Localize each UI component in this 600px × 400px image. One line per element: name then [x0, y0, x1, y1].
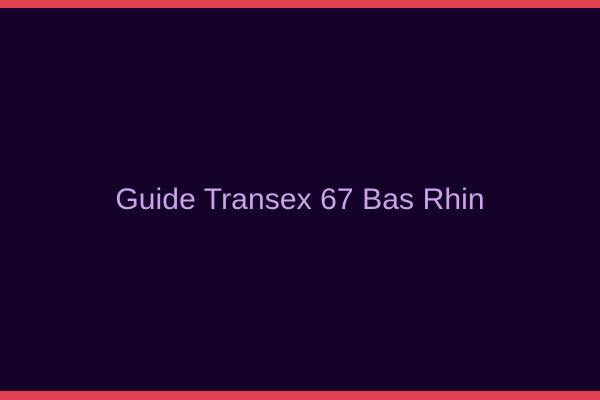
screenshot-viewport: Guide Transex 67 Bas Rhin — [0, 0, 600, 400]
content-stage: Guide Transex 67 Bas Rhin — [0, 8, 600, 391]
top-accent-bar — [0, 0, 600, 8]
bottom-accent-bar — [0, 391, 600, 400]
page-title: Guide Transex 67 Bas Rhin — [115, 183, 484, 216]
